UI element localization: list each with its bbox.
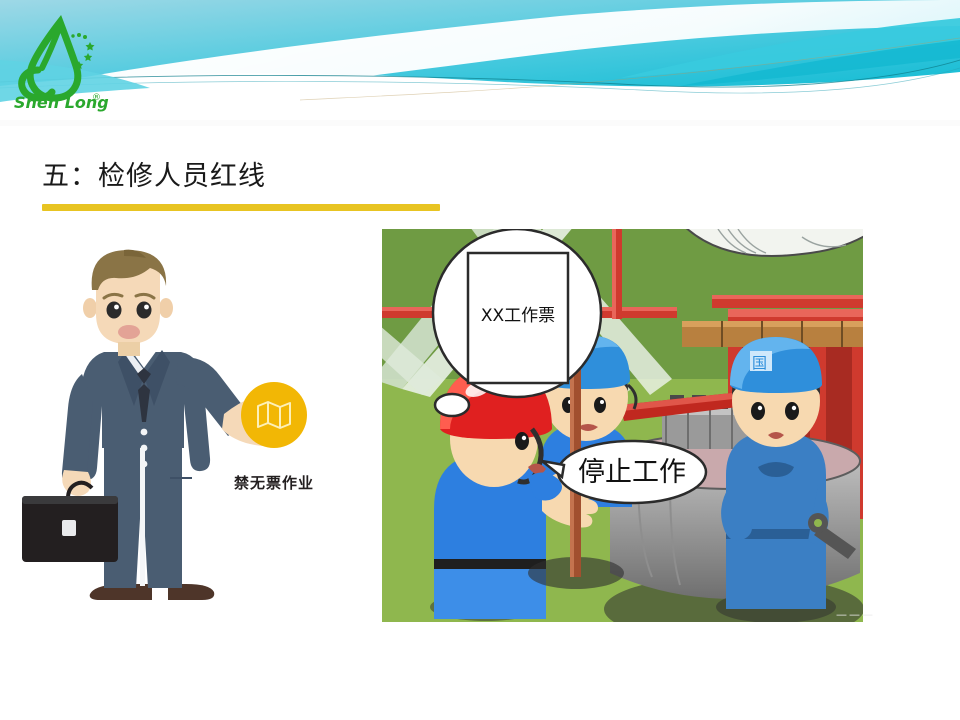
- badge-caption: 禁无票作业: [198, 472, 350, 493]
- briefcase: [22, 483, 118, 562]
- safety-rule-badge: 禁无票作业: [198, 382, 350, 493]
- folded-map-icon: [257, 401, 291, 429]
- work-permit-bubble-text: XX工作票: [481, 306, 555, 326]
- badge-circle: [241, 382, 307, 448]
- banner-wave-graphic: [0, 0, 960, 126]
- image-watermark: ———: [836, 608, 875, 621]
- shen-long-logo-mark: Shen Long ®: [8, 12, 112, 112]
- title-underline-rule: [42, 204, 440, 211]
- registered-mark-icon: ®: [92, 93, 101, 103]
- workshop-illustration-panel: 国 国: [382, 229, 863, 622]
- page-title: 五：检修人员红线: [42, 158, 602, 196]
- helmet-mark-right: 国: [752, 354, 767, 372]
- head: [83, 250, 173, 356]
- brand-logo: Shen Long ®: [8, 12, 112, 112]
- workshop-cartoon-graphic: 国 国: [382, 229, 863, 622]
- header-banner: [0, 0, 960, 126]
- left-arm: [62, 374, 93, 496]
- stop-work-bubble-text: 停止工作: [578, 457, 686, 488]
- page-title-text: 五：检修人员红线: [42, 158, 602, 196]
